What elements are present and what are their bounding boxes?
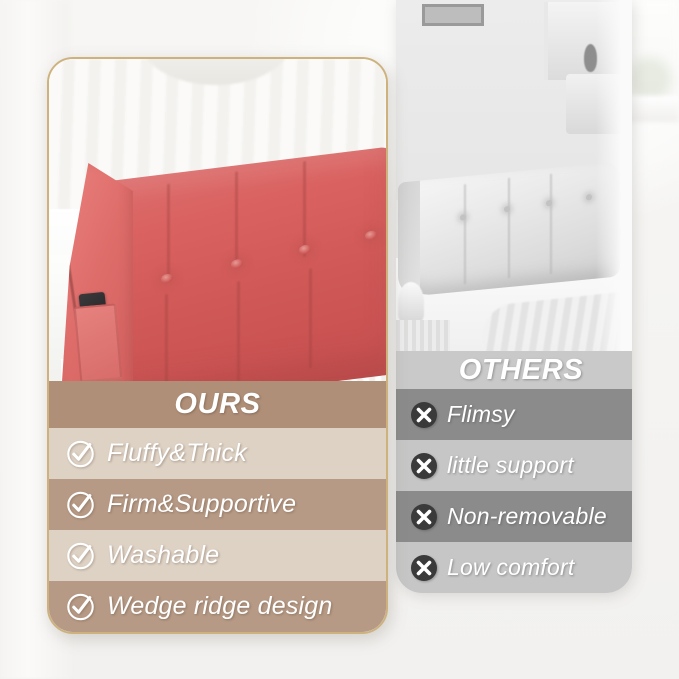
gray-picture-frame — [422, 4, 484, 26]
ours-feature-row: Fluffy&Thick — [49, 428, 386, 479]
others-feature-label: Flimsy — [447, 401, 515, 428]
ours-feature-label: Firm&Supportive — [107, 490, 296, 519]
ours-feature-row: Firm&Supportive — [49, 479, 386, 530]
check-circle-icon — [65, 591, 96, 622]
others-feature-row: little support — [396, 440, 632, 491]
comparison-graphic: OTHERS Flimsy little support — [0, 0, 679, 679]
ours-panel: OURS Fluffy&Thick Firm — [47, 57, 388, 634]
x-circle-icon — [410, 452, 438, 480]
ours-title: OURS — [174, 388, 260, 421]
others-header-band: OTHERS — [396, 351, 632, 389]
ours-feature-row: Wedge ridge design — [49, 581, 386, 632]
gray-table-lamp — [398, 282, 424, 322]
check-circle-icon — [65, 489, 96, 520]
others-feature-label: Low comfort — [447, 554, 574, 581]
others-feature-label: little support — [447, 452, 574, 479]
x-circle-icon — [410, 503, 438, 531]
ours-feature-row: Washable — [49, 530, 386, 581]
ours-feature-label: Fluffy&Thick — [107, 439, 247, 468]
check-circle-icon — [65, 438, 96, 469]
others-title: OTHERS — [459, 354, 583, 387]
ours-feature-label: Wedge ridge design — [107, 592, 333, 621]
ours-feature-label: Washable — [107, 541, 219, 570]
x-circle-icon — [410, 554, 438, 582]
others-feature-row: Non-removable — [396, 491, 632, 542]
ours-header-band: OURS — [49, 381, 386, 428]
others-feature-label: Non-removable — [447, 503, 607, 530]
others-panel: OTHERS Flimsy little support — [396, 0, 632, 593]
side-pocket — [74, 303, 122, 382]
x-circle-icon — [410, 401, 438, 429]
gray-wedge-pillow — [398, 161, 620, 297]
check-circle-icon — [65, 540, 96, 571]
others-feature-row: Low comfort — [396, 542, 632, 593]
coral-wedge-pillow — [61, 165, 388, 395]
others-feature-list: OTHERS Flimsy little support — [396, 351, 632, 593]
ours-feature-list: OURS Fluffy&Thick Firm — [49, 381, 386, 632]
others-feature-row: Flimsy — [396, 389, 632, 440]
